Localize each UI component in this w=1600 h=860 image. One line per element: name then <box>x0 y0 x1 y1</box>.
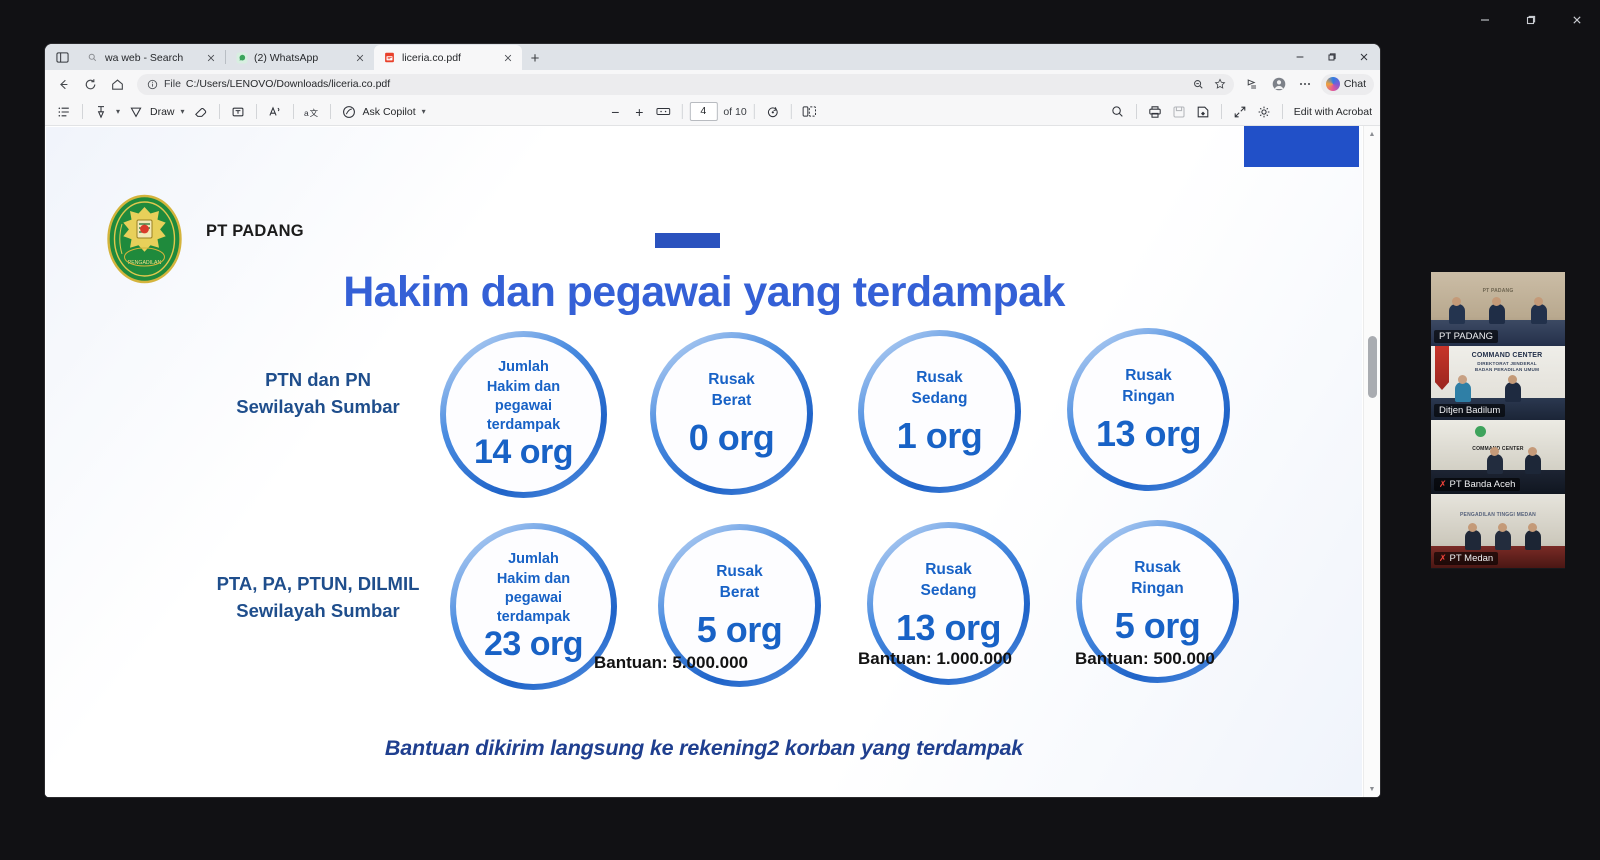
circle-caption: Rusak Berat <box>716 562 763 603</box>
tab-strip: wa web - Search (2) WhatsApp <box>45 44 1380 70</box>
slide-footnote: Bantuan dikirim langsung ke rekening2 ko… <box>45 736 1363 761</box>
reload-icon[interactable] <box>78 72 103 97</box>
copilot-label: Chat <box>1344 78 1366 90</box>
circle-row1-rusak-sedang: Rusak Sedang 1 org <box>858 330 1021 493</box>
vertical-scrollbar[interactable]: ▲ ▼ <box>1363 126 1380 797</box>
rotate-icon[interactable] <box>762 101 784 123</box>
settings-more-icon[interactable] <box>1293 72 1317 96</box>
text-box-icon[interactable] <box>227 101 249 123</box>
scroll-down-icon[interactable]: ▼ <box>1364 781 1380 797</box>
browser-close-button[interactable] <box>1348 44 1380 70</box>
pdf-toolbar-right: Edit with Acrobat <box>1107 101 1372 123</box>
circle-caption: Rusak Sedang <box>912 368 968 409</box>
zoom-out-button[interactable]: − <box>604 101 626 123</box>
pdf-viewport[interactable]: PENGADILAN PT PADANG Hakim dan pegawai y… <box>45 126 1380 797</box>
ask-copilot-label: Ask Copilot <box>361 106 418 118</box>
bantuan-label-1: Bantuan: 5.000.000 <box>594 653 748 673</box>
decorative-blue-box <box>1244 126 1359 167</box>
zoom-participant-strip: PT PADANG PT PADANG COMMAND CENTER DIREK… <box>1431 272 1565 569</box>
circle-value: 13 org <box>896 609 1001 647</box>
zoom-out-icon[interactable] <box>1189 75 1208 94</box>
toolbar-divider <box>330 104 331 119</box>
toolbar-divider <box>256 104 257 119</box>
edit-with-acrobat-button[interactable]: Edit with Acrobat <box>1290 106 1372 118</box>
circle-caption: Rusak Ringan <box>1131 558 1184 599</box>
participant-name-badge: Ditjen Badilum <box>1434 404 1505 417</box>
scrollbar-thumb[interactable] <box>1368 336 1377 398</box>
svg-text:文: 文 <box>310 107 319 117</box>
participant-name: PT Medan <box>1450 553 1494 564</box>
decorative-blue-bar <box>655 233 720 248</box>
translate-icon[interactable]: a文 <box>301 101 323 123</box>
circle-caption: Rusak Ringan <box>1122 366 1175 407</box>
tab-title: liceria.co.pdf <box>402 52 494 64</box>
row-label-pta-pa-ptun-dilmil: PTA, PA, PTUN, DILMIL Sewilayah Sumbar <box>183 570 453 625</box>
desktop-root: wa web - Search (2) WhatsApp <box>0 0 1600 860</box>
tab-close-icon[interactable] <box>352 50 367 65</box>
fullscreen-icon[interactable] <box>1229 101 1251 123</box>
circle-value: 13 org <box>1096 415 1201 453</box>
row-label-line-1: PTA, PA, PTUN, DILMIL <box>183 570 453 597</box>
highlight-icon[interactable] <box>90 101 112 123</box>
fit-page-icon[interactable] <box>652 101 674 123</box>
zoom-tile-pt-banda-aceh[interactable]: COMMAND CENTER ✗ PT Banda Aceh <box>1431 420 1565 494</box>
svg-text:a: a <box>304 107 309 117</box>
new-tab-button[interactable]: + <box>522 46 548 70</box>
participant-name-badge: PT PADANG <box>1434 330 1498 343</box>
tab-whatsapp[interactable]: (2) WhatsApp <box>226 45 374 70</box>
toolbar-divider <box>791 104 792 119</box>
circle-caption: Jumlah Hakim dan pegawai terdampak <box>487 358 560 435</box>
page-total-label: of 10 <box>723 106 746 118</box>
toolbar-divider <box>1136 104 1137 119</box>
circle-row1-rusak-berat: Rusak Berat 0 org <box>650 332 813 495</box>
desktop-restore-button[interactable] <box>1508 3 1554 37</box>
participant-name: Ditjen Badilum <box>1439 405 1500 416</box>
desktop-close-button[interactable] <box>1554 3 1600 37</box>
highlight-group[interactable]: ▾ <box>90 101 123 123</box>
page-number-input[interactable]: 4 <box>689 102 717 121</box>
settings-gear-icon[interactable] <box>1253 101 1275 123</box>
tab-close-icon[interactable] <box>203 50 218 65</box>
ask-copilot-group[interactable]: Ask Copilot ▾ <box>338 101 429 123</box>
participant-name: PT Banda Aceh <box>1450 479 1516 490</box>
mute-icon: ✗ <box>1439 554 1447 563</box>
circle-caption: Rusak Berat <box>708 370 755 411</box>
circle-value: 1 org <box>897 417 983 455</box>
browser-window-controls <box>1284 44 1380 70</box>
slide-title: Hakim dan pegawai yang terdampak <box>45 268 1363 317</box>
zoom-tile-ditjen-badilum[interactable]: COMMAND CENTER DIREKTORAT JENDERAL BADAN… <box>1431 346 1565 420</box>
tab-wa-web-search[interactable]: wa web - Search <box>77 45 225 70</box>
browser-restore-button[interactable] <box>1316 44 1348 70</box>
participant-name-badge: ✗ PT Medan <box>1434 552 1498 565</box>
tab-title: wa web - Search <box>105 52 197 64</box>
scroll-up-icon[interactable]: ▲ <box>1364 126 1380 142</box>
desktop-window-controls <box>1462 0 1600 40</box>
tab-sidebar-toggle-icon[interactable] <box>47 44 77 70</box>
draw-group[interactable]: Draw ▾ <box>125 101 188 123</box>
whatsapp-icon <box>235 51 248 64</box>
toolbar-divider <box>82 104 83 119</box>
toolbar-divider <box>1282 104 1283 119</box>
circle-row2-total: Jumlah Hakim dan pegawai terdampak 23 or… <box>450 523 617 690</box>
row-label-line-2: Sewilayah Sumbar <box>193 393 443 420</box>
copilot-icon <box>1326 77 1340 91</box>
org-name-label: PT PADANG <box>206 222 304 241</box>
back-icon[interactable] <box>51 72 76 97</box>
pdf-page: PENGADILAN PT PADANG Hakim dan pegawai y… <box>45 126 1363 797</box>
collections-icon[interactable] <box>1241 72 1265 96</box>
copilot-chat-button[interactable]: Chat <box>1321 74 1374 95</box>
circle-caption: Jumlah Hakim dan pegawai terdampak <box>497 550 570 627</box>
address-url-text: C:/Users/LENOVO/Downloads/liceria.co.pdf <box>186 78 1184 90</box>
tab-title: (2) WhatsApp <box>254 52 346 64</box>
address-input[interactable]: File C:/Users/LENOVO/Downloads/liceria.c… <box>137 74 1234 95</box>
pdf-icon <box>383 51 396 64</box>
circle-value: 0 org <box>689 419 775 457</box>
circle-row1-rusak-ringan: Rusak Ringan 13 org <box>1067 328 1230 491</box>
chevron-down-icon[interactable]: ▾ <box>178 107 188 116</box>
page-layout-icon[interactable] <box>799 101 821 123</box>
row-label-line-1: PTN dan PN <box>193 366 443 393</box>
save-icon[interactable] <box>1168 101 1190 123</box>
erase-icon[interactable] <box>190 101 212 123</box>
svg-text:PENGADILAN: PENGADILAN <box>128 260 162 266</box>
address-scheme-label: File <box>164 78 181 90</box>
participant-name-badge: ✗ PT Banda Aceh <box>1434 478 1520 491</box>
zoom-tile-pt-medan[interactable]: PENGADILAN TINGGI MEDAN ✗ PT Medan <box>1431 494 1565 568</box>
tab-liceria-pdf[interactable]: liceria.co.pdf <box>374 45 522 70</box>
search-icon[interactable] <box>1107 101 1129 123</box>
circle-value: 5 org <box>697 611 783 649</box>
home-icon[interactable] <box>105 72 130 97</box>
chevron-down-icon[interactable]: ▾ <box>419 107 429 116</box>
circle-caption: Rusak Sedang <box>921 560 977 601</box>
chevron-down-icon[interactable]: ▾ <box>113 107 123 116</box>
profile-icon[interactable] <box>1267 72 1291 96</box>
draw-label: Draw <box>148 106 177 118</box>
circle-value: 14 org <box>474 435 573 471</box>
participant-name: PT PADANG <box>1439 331 1493 342</box>
pdf-page-controls: − + 4 of 10 <box>604 101 820 123</box>
pdf-toolbar: ▾ Draw ▾ a文 <box>45 98 1380 126</box>
search-icon <box>86 51 99 64</box>
circle-value: 5 org <box>1115 607 1201 645</box>
circle-value: 23 org <box>484 627 583 663</box>
table-of-contents-icon[interactable] <box>53 101 75 123</box>
mute-icon: ✗ <box>1439 480 1447 489</box>
toolbar-divider <box>754 104 755 119</box>
info-circle-icon <box>146 78 159 91</box>
row-label-line-2: Sewilayah Sumbar <box>183 597 453 624</box>
tab-close-icon[interactable] <box>500 50 515 65</box>
browser-minimize-button[interactable] <box>1284 44 1316 70</box>
row-label-ptn-pn: PTN dan PN Sewilayah Sumbar <box>193 366 443 421</box>
bantuan-label-3: Bantuan: 500.000 <box>1075 649 1215 669</box>
favorite-star-icon[interactable] <box>1211 75 1230 94</box>
bantuan-label-2: Bantuan: 1.000.000 <box>858 649 1012 669</box>
toolbar-divider <box>219 104 220 119</box>
circle-row1-total: Jumlah Hakim dan pegawai terdampak 14 or… <box>440 331 607 498</box>
address-bar: File C:/Users/LENOVO/Downloads/liceria.c… <box>45 70 1380 98</box>
print-icon[interactable] <box>1144 101 1166 123</box>
address-right-icons <box>1189 75 1230 94</box>
browser-window: wa web - Search (2) WhatsApp <box>45 44 1380 797</box>
save-as-icon[interactable] <box>1192 101 1214 123</box>
read-aloud-icon[interactable] <box>264 101 286 123</box>
toolbar-divider <box>293 104 294 119</box>
zoom-in-button[interactable]: + <box>628 101 650 123</box>
toolbar-divider <box>681 104 682 119</box>
desktop-minimize-button[interactable] <box>1462 3 1508 37</box>
draw-icon[interactable] <box>125 101 147 123</box>
zoom-tile-pt-padang[interactable]: PT PADANG PT PADANG <box>1431 272 1565 346</box>
ask-copilot-icon[interactable] <box>338 101 360 123</box>
toolbar-divider <box>1221 104 1222 119</box>
